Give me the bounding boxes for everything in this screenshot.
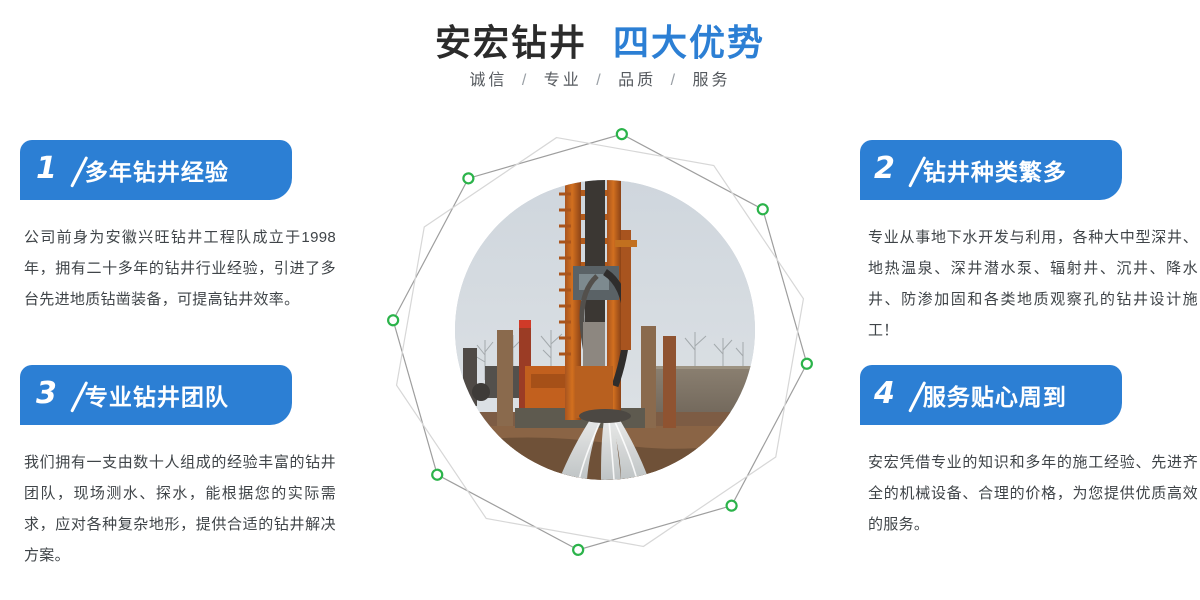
card-1-number-badge: 1: [36, 154, 77, 184]
subtitle-row: 诚信 / 专业 / 品质 / 服务: [0, 66, 1200, 90]
page-title: 安宏钻井 四大优势: [0, 14, 1200, 66]
drilling-rig-photo-illustration: [455, 180, 755, 480]
card-3-body: 我们拥有一支由数十人组成的经验丰富的钻井团队，现场测水、探水，能根据您的实际需求…: [24, 447, 336, 571]
vertex-marker-icon: [388, 315, 399, 326]
vertex-marker-icon: [432, 469, 443, 480]
title-accent-text: 四大优势: [613, 14, 765, 66]
subtitle-item-2: 品质: [618, 72, 656, 89]
page-header: 安宏钻井 四大优势 诚信 / 专业 / 品质 / 服务: [0, 0, 1200, 110]
vertex-marker-icon: [726, 500, 737, 511]
subtitle-separator-0: /: [522, 72, 529, 89]
subtitle-item-3: 服务: [693, 72, 731, 89]
subtitle-item-1: 专业: [544, 72, 582, 89]
title-main-text: 安宏钻井: [435, 14, 587, 66]
card-2-header: 2 钻井种类繁多: [860, 140, 1122, 200]
subtitle-separator-1: /: [596, 72, 603, 89]
vertex-marker-icon: [616, 129, 627, 140]
card-3-title: 专业钻井团队: [85, 378, 229, 412]
advantage-card-3[interactable]: 3 专业钻井团队 我们拥有一支由数十人组成的经验丰富的钻井团队，现场测水、探水，…: [0, 365, 340, 571]
subtitle-separator-2: /: [671, 72, 678, 89]
card-4-body: 安宏凭借专业的知识和多年的施工经验、先进齐全的机械设备、合理的价格，为您提供优质…: [868, 447, 1198, 540]
vertex-marker-icon: [757, 204, 768, 215]
advantages-page: 安宏钻井 四大优势 诚信 / 专业 / 品质 / 服务: [0, 0, 1200, 600]
card-3-number-badge: 3: [36, 379, 77, 409]
subtitle-item-0: 诚信: [469, 72, 507, 89]
card-1-header: 1 多年钻井经验: [20, 140, 292, 200]
card-3-header: 3 专业钻井团队: [20, 365, 292, 425]
center-photo: [455, 180, 755, 480]
card-1-title: 多年钻井经验: [85, 153, 229, 187]
vertex-marker-icon: [573, 544, 584, 555]
card-4-header: 4 服务贴心周到: [860, 365, 1122, 425]
vertex-marker-icon: [801, 358, 812, 369]
card-2-title: 钻井种类繁多: [923, 153, 1067, 187]
card-2-body: 专业从事地下水开发与利用，各种大中型深井、地热温泉、深井潜水泵、辐射井、沉井、降…: [868, 222, 1198, 346]
advantage-card-1[interactable]: 1 多年钻井经验 公司前身为安徽兴旺钻井工程队成立于1998年，拥有二十多年的钻…: [0, 140, 340, 315]
card-1-body: 公司前身为安徽兴旺钻井工程队成立于1998年，拥有二十多年的钻井行业经验，引进了…: [24, 222, 336, 315]
advantage-card-4[interactable]: 4 服务贴心周到 安宏凭借专业的知识和多年的施工经验、先进齐全的机械设备、合理的…: [860, 365, 1200, 540]
card-4-number-badge: 4: [874, 379, 915, 409]
advantage-card-2[interactable]: 2 钻井种类繁多 专业从事地下水开发与利用，各种大中型深井、地热温泉、深井潜水泵…: [860, 140, 1200, 346]
card-2-number-badge: 2: [874, 154, 915, 184]
card-4-title: 服务贴心周到: [923, 378, 1067, 412]
